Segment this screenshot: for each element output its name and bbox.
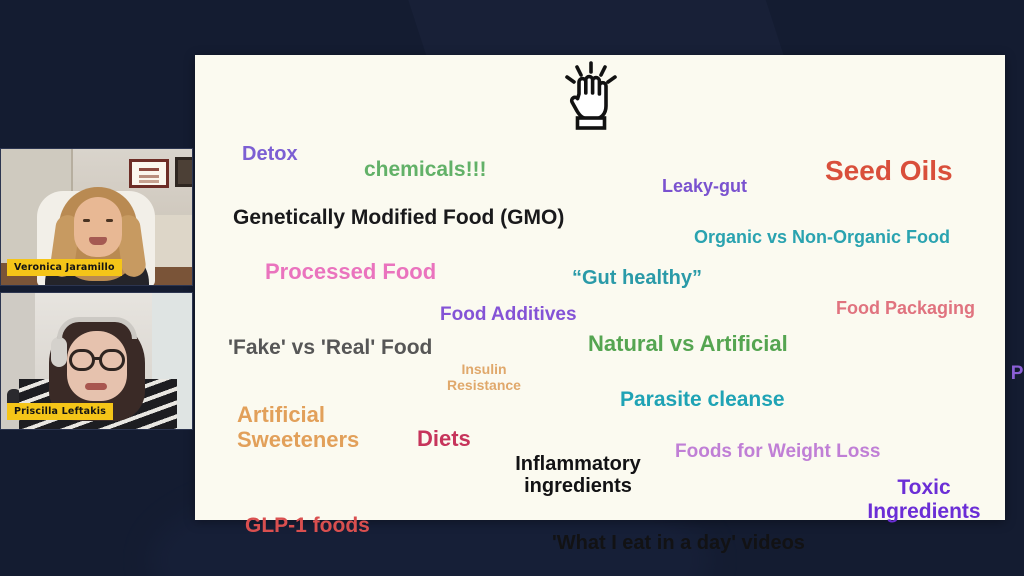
wordcloud-term: 'What I eat in a day' videos (552, 532, 805, 554)
headphone-earcup (51, 337, 67, 367)
wordcloud-term: Artificial Sweeteners (237, 403, 359, 452)
wordcloud-term: 'Fake' vs 'Real' Food (228, 336, 432, 360)
participant-tile-priscilla[interactable]: Priscilla Leftakis (0, 292, 193, 430)
person-eye-left (83, 219, 90, 222)
raised-hand-icon (560, 60, 622, 132)
wordcloud-term: Seed Oils (825, 155, 953, 186)
wordcloud-term: Processed Food (265, 260, 436, 285)
participant-name-badge: Veronica Jaramillo (7, 259, 122, 276)
wordcloud-term: “Gut healthy” (572, 267, 702, 289)
wordcloud-term: Genetically Modified Food (GMO) (233, 206, 564, 230)
wordcloud-term: Food Additives (440, 304, 577, 325)
wordcloud-term: Leaky-gut (662, 176, 747, 196)
participant-video-sidebar: Veronica Jaramillo Priscilla Leftakis (0, 148, 193, 431)
headphone-band (57, 317, 137, 339)
wordcloud-term: chemicals!!! (364, 158, 487, 182)
eyeglass-bridge (94, 357, 101, 360)
wordcloud-term: PFAS/Forever chemicals (1011, 363, 1024, 406)
wordcloud-term: Toxic Ingredients (867, 476, 980, 523)
wordcloud-term: Inflammatory ingredients (515, 453, 641, 498)
wordcloud-term: Diets (417, 427, 471, 452)
shared-screen-wordcloud[interactable]: Detoxchemicals!!!Genetically Modified Fo… (195, 55, 1005, 520)
wordcloud-term: GLP-1 foods (245, 514, 370, 538)
person-face (74, 197, 122, 257)
wordcloud-term: Foods for Weight Loss (675, 441, 880, 462)
wordcloud-term: Parasite cleanse (620, 388, 785, 412)
wordcloud-term: Natural vs Artificial (588, 332, 788, 357)
wordcloud-term: Insulin Resistance (447, 362, 521, 393)
framed-picture (175, 157, 193, 187)
wordcloud-term: Food Packaging (836, 298, 975, 318)
participant-tile-veronica[interactable]: Veronica Jaramillo (0, 148, 193, 286)
framed-certificate (129, 159, 169, 188)
eyeglass-lens-left (69, 349, 95, 371)
person-eye-right (106, 219, 113, 222)
person-mouth (89, 237, 107, 245)
person-mouth (85, 383, 107, 390)
wordcloud-term: Organic vs Non-Organic Food (694, 227, 950, 247)
eyeglass-lens-right (99, 349, 125, 371)
participant-name-badge: Priscilla Leftakis (7, 403, 113, 420)
wordcloud-term: Detox (242, 143, 298, 165)
